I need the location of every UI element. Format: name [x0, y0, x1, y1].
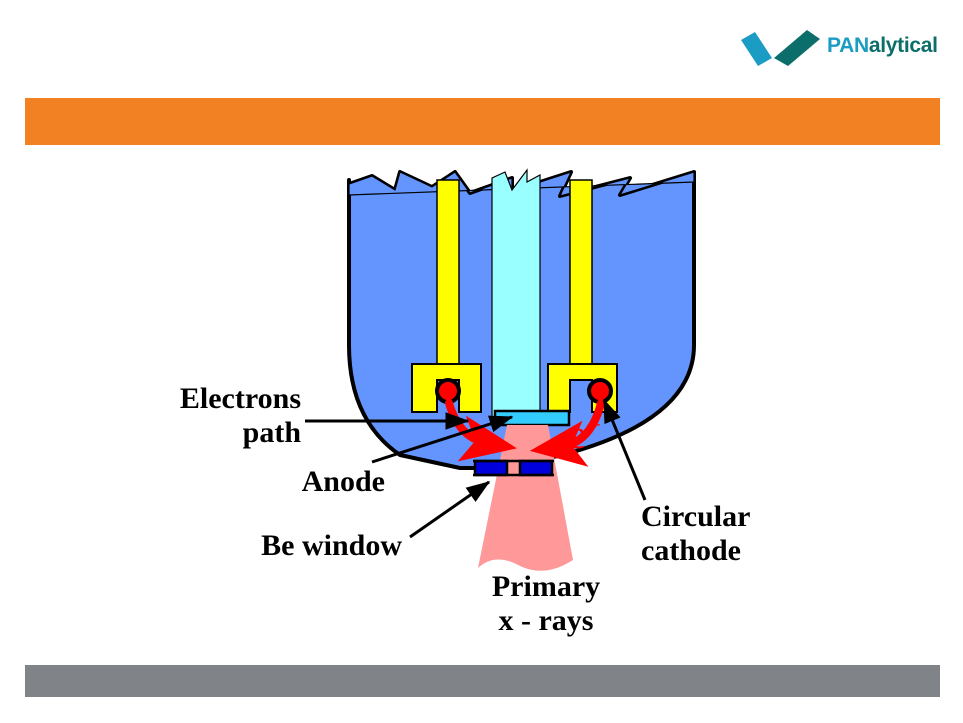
label-anode: Anode [136, 465, 385, 499]
anode-column [492, 170, 540, 418]
beryllium-window-right [520, 461, 552, 475]
filament-dot-right [589, 380, 611, 402]
cathode-stalk-right [570, 180, 592, 380]
leader-be-window [410, 482, 489, 537]
label-circular-cathode: Circular cathode [641, 500, 851, 568]
label-primary-xrays: Primary x - rays [431, 570, 661, 638]
label-electrons-path: Electrons path [136, 382, 301, 450]
label-be-window: Be window [136, 529, 402, 563]
cathode-stalk-left [437, 180, 459, 380]
filament-dot-left [437, 380, 459, 402]
label-electron-symbol: e− [568, 414, 601, 455]
slide-canvas: PANalytical [0, 0, 963, 723]
electron-symbol-glyph: e [568, 411, 586, 457]
beryllium-window-left [475, 461, 507, 475]
electron-charge-glyph: − [586, 410, 601, 439]
